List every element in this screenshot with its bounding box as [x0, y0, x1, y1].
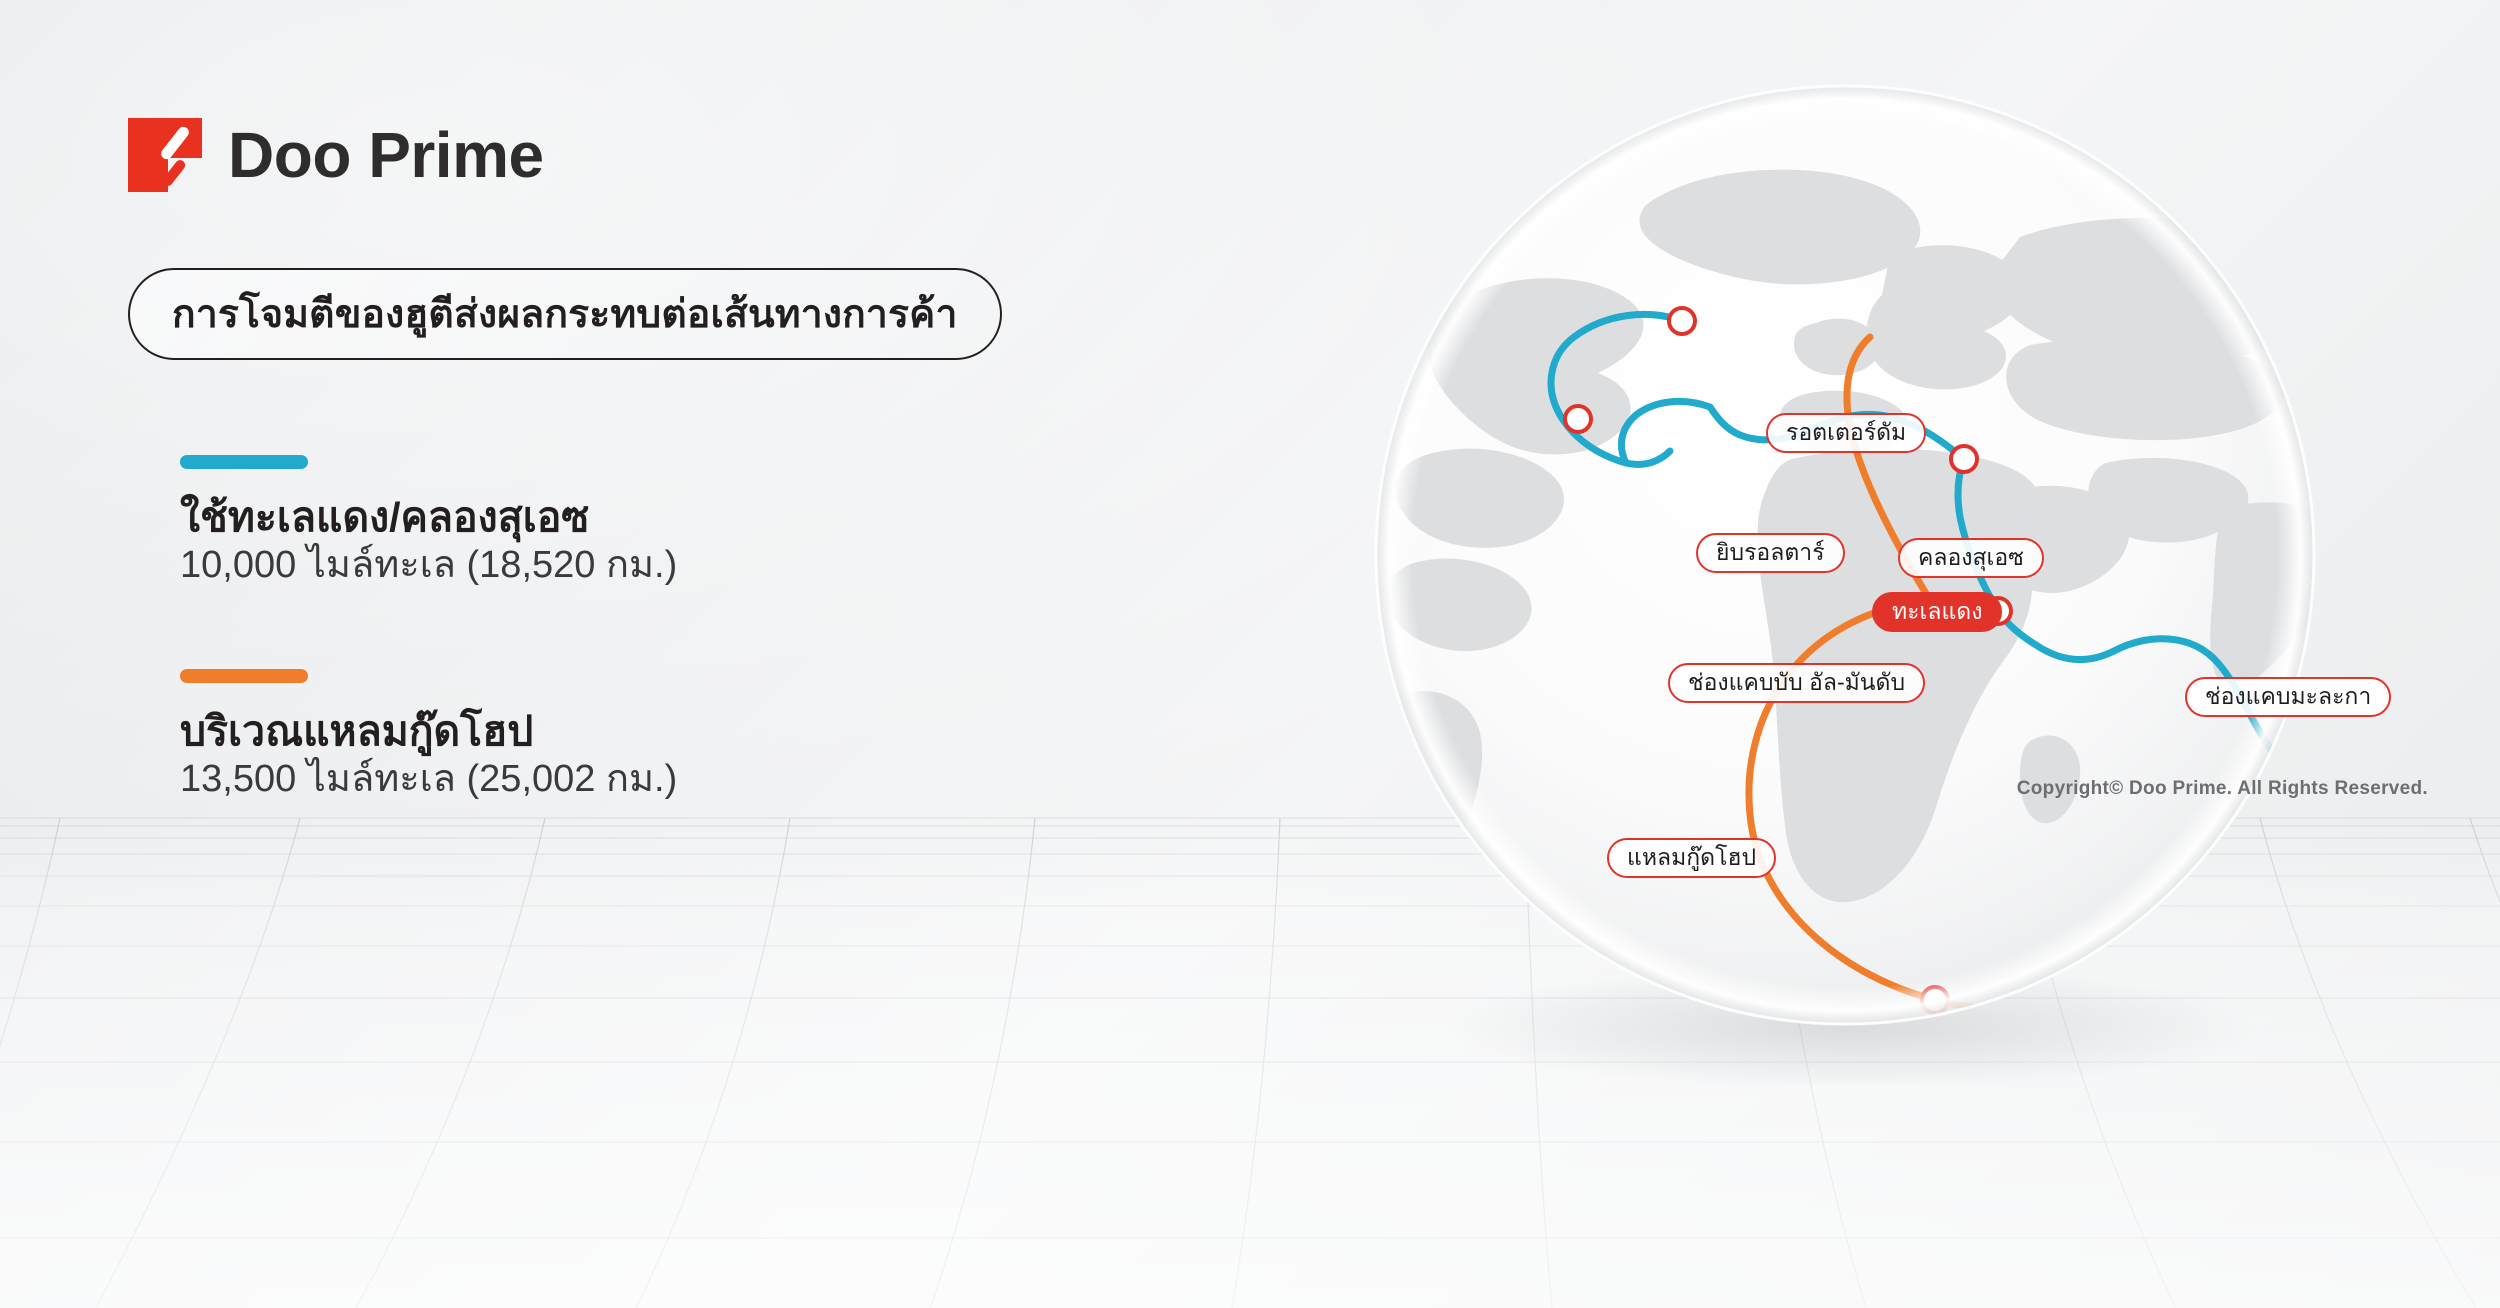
infographic-canvas: Doo Prime การโจมตีของฮูตีส่งผลกระทบต่อเส…: [0, 0, 2500, 1308]
legend-item-cape: บริเวณแหลมกู๊ดโฮป 13,500 ไมล์ทะเล (25,00…: [180, 669, 677, 805]
page-title: การโจมตีของฮูตีส่งผลกระทบต่อเส้นทางการค้…: [172, 283, 958, 345]
page-title-pill: การโจมตีของฮูตีส่งผลกระทบต่อเส้นทางการค้…: [128, 268, 1002, 360]
doo-prime-logo-icon: [128, 118, 202, 192]
map-label-good-hope[interactable]: แหลมกู๊ดโฮป: [1607, 838, 1776, 878]
legend-swatch-cape: [180, 669, 308, 683]
globe-rim-highlight: [1375, 85, 2315, 1025]
brand-logo: Doo Prime: [128, 118, 544, 192]
legend-title-cape: บริเวณแหลมกู๊ดโฮป: [180, 707, 677, 755]
legend-value-suez: 10,000 ไมล์ทะเล (18,520 กม.): [180, 541, 677, 590]
legend-swatch-suez: [180, 455, 308, 469]
map-label-rotterdam[interactable]: รอตเตอร์ดัม: [1766, 413, 1926, 453]
legend-value-cape: 13,500 ไมล์ทะเล (25,002 กม.): [180, 755, 677, 804]
map-label-red-sea[interactable]: ทะเลแดง: [1872, 592, 2002, 632]
map-label-gibraltar[interactable]: ยิบรอลตาร์: [1696, 533, 1845, 573]
map-label-bab-el-mandeb[interactable]: ช่องแคบบับ อัล-มันดับ: [1668, 663, 1925, 703]
globe-map: [1330, 55, 2360, 1085]
legend-item-suez: ใช้ทะเลแดง/คลองสุเอซ 10,000 ไมล์ทะเล (18…: [180, 455, 677, 591]
map-label-malacca[interactable]: ช่องแคบมะละกา: [2185, 677, 2391, 717]
copyright-text: Copyright© Doo Prime. All Rights Reserve…: [2017, 778, 2428, 800]
brand-wordmark: Doo Prime: [228, 123, 544, 187]
map-label-suez-canal[interactable]: คลองสุเอซ: [1898, 538, 2044, 578]
legend-title-suez: ใช้ทะเลแดง/คลองสุเอซ: [180, 493, 677, 541]
